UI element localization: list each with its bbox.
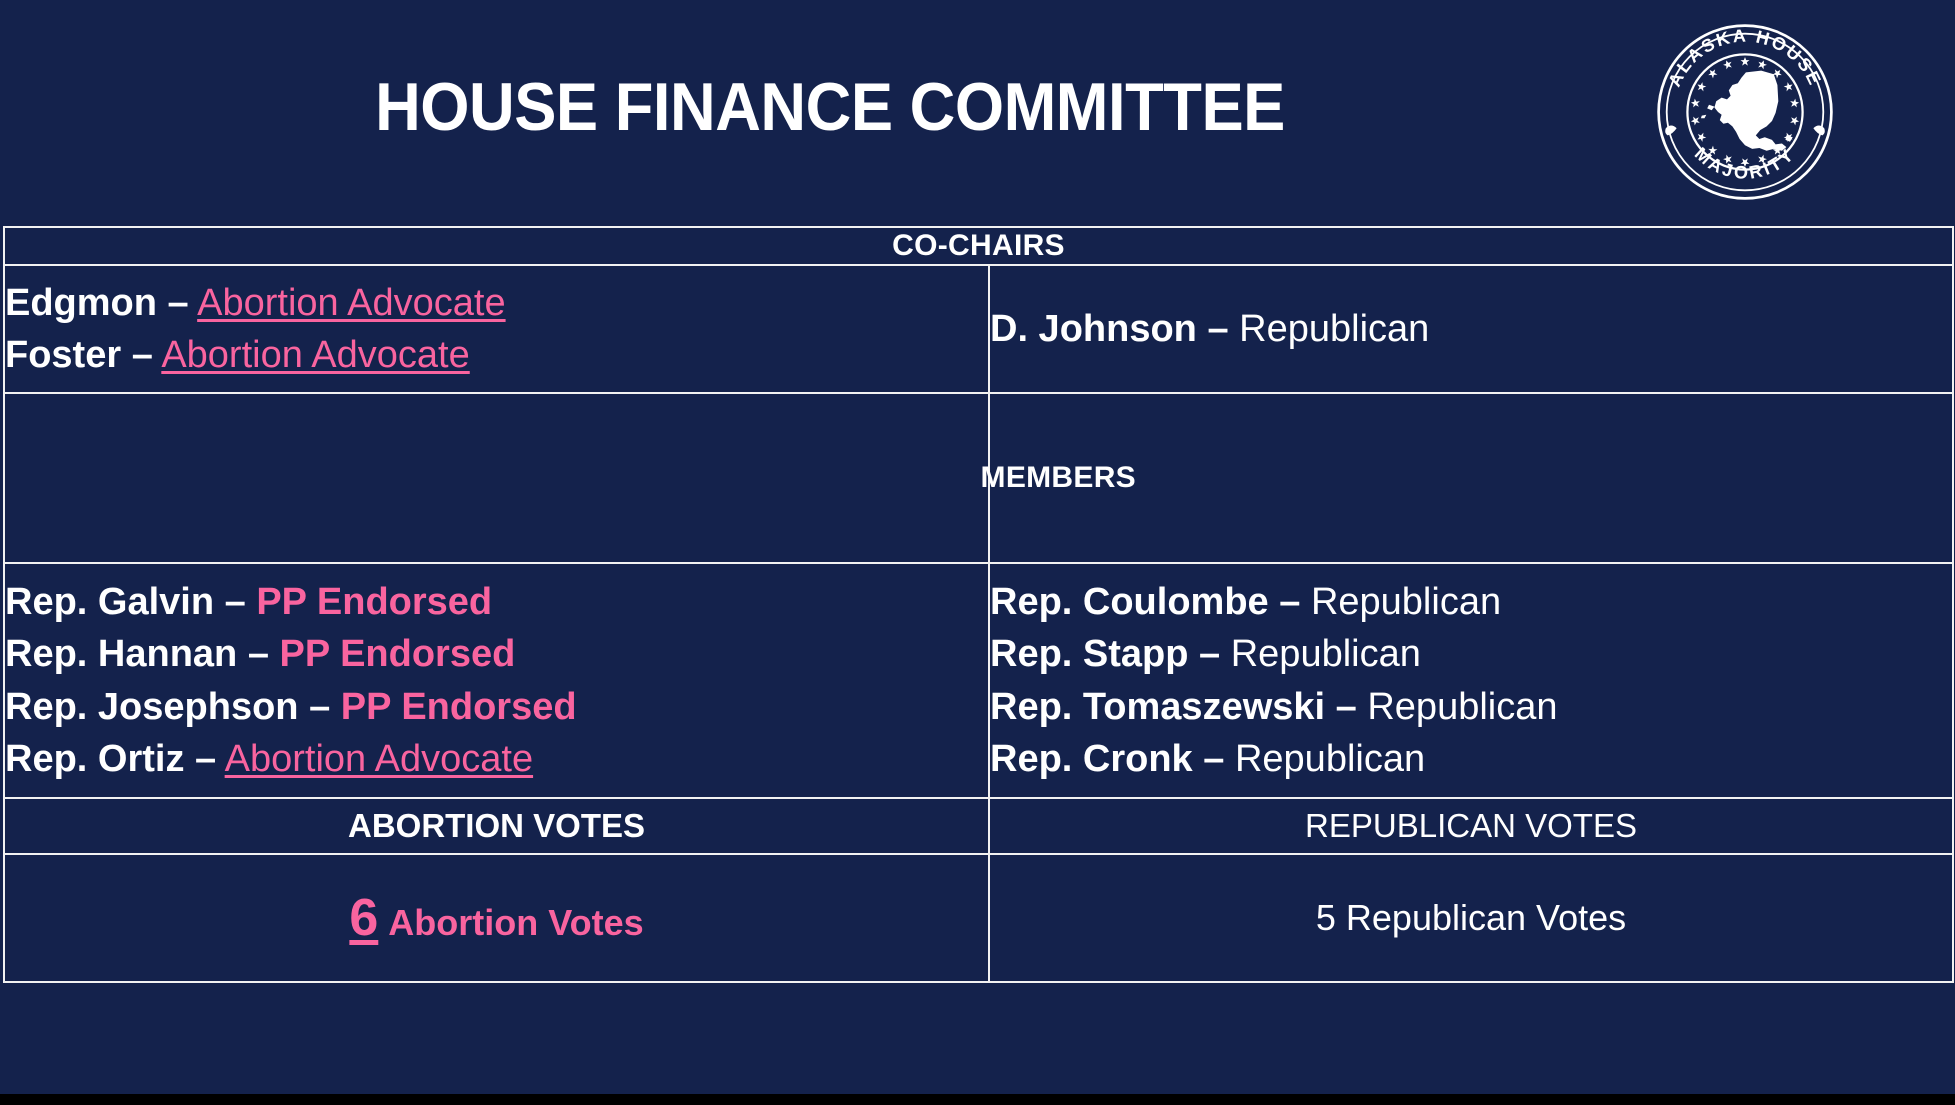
member-line: Rep. Ortiz – Abortion Advocate xyxy=(5,733,988,785)
table-row-vote-headers: ABORTION VOTES REPUBLICAN VOTES xyxy=(4,798,1953,854)
member-name: Rep. Cronk xyxy=(990,738,1193,780)
abortion-votes-count-label: Abortion Votes xyxy=(388,902,643,943)
members-left-cell: Rep. Galvin – PP Endorsed Rep. Hannan – … xyxy=(4,563,989,798)
member-line: D. Johnson – Republican xyxy=(990,303,1952,355)
member-name: Rep. Hannan xyxy=(5,633,237,675)
table-row-members: Rep. Galvin – PP Endorsed Rep. Hannan – … xyxy=(4,563,1953,798)
republican-votes-header: REPUBLICAN VOTES xyxy=(989,798,1953,854)
co-chairs-left-cell: Edgmon – Abortion Advocate Foster – Abor… xyxy=(4,265,989,393)
member-name: Edgmon xyxy=(5,282,157,324)
member-dash: – xyxy=(1336,686,1357,728)
abortion-votes-total-cell: 6Abortion Votes xyxy=(4,854,989,982)
member-name: Rep. Tomaszewski xyxy=(990,686,1325,728)
member-affiliation: Republican xyxy=(1231,633,1421,675)
table-row-co-chairs: Edgmon – Abortion Advocate Foster – Abor… xyxy=(4,265,1953,393)
member-affiliation: PP Endorsed xyxy=(341,686,577,728)
slide-canvas: HOUSE FINANCE COMMITTEE ALASKA HOUSE MAJ… xyxy=(0,0,1955,1094)
member-line: Foster – Abortion Advocate xyxy=(5,329,988,381)
member-dash: – xyxy=(309,686,330,728)
member-affiliation: Republican xyxy=(1311,581,1501,623)
member-dash: – xyxy=(1199,633,1220,675)
member-affiliation: Republican xyxy=(1235,738,1425,780)
member-affiliation: Abortion Advocate xyxy=(225,738,533,780)
member-name: Rep. Josephson xyxy=(5,686,299,728)
member-name: Rep. Ortiz xyxy=(5,738,184,780)
member-dash: – xyxy=(1203,738,1224,780)
member-line: Rep. Josephson – PP Endorsed xyxy=(5,681,988,733)
member-name: Foster xyxy=(5,334,121,376)
member-dash: – xyxy=(1279,581,1300,623)
member-affiliation: Republican xyxy=(1367,686,1557,728)
member-dash: – xyxy=(195,738,216,780)
member-affiliation: Abortion Advocate xyxy=(197,282,505,324)
section-header-co-chairs: CO-CHAIRS xyxy=(4,227,1953,265)
table-row-vote-totals: 6Abortion Votes 5 Republican Votes xyxy=(4,854,1953,982)
member-line: Rep. Stapp – Republican xyxy=(990,628,1952,680)
page-title: HOUSE FINANCE COMMITTEE xyxy=(58,68,1602,146)
member-line: Rep. Hannan – PP Endorsed xyxy=(5,628,988,680)
member-dash: – xyxy=(248,633,269,675)
co-chairs-right-cell: D. Johnson – Republican xyxy=(989,265,1953,393)
section-header-members: MEMBERS xyxy=(153,461,1136,495)
table-row-members-header: MEMBERS xyxy=(4,393,1953,563)
abortion-votes-header: ABORTION VOTES xyxy=(4,798,989,854)
alaska-state-silhouette-icon xyxy=(1701,71,1793,151)
member-dash: – xyxy=(132,334,153,376)
members-right-cell: Rep. Coulombe – Republican Rep. Stapp – … xyxy=(989,563,1953,798)
republican-votes-total: 5 Republican Votes xyxy=(1316,897,1626,938)
republican-votes-total-cell: 5 Republican Votes xyxy=(989,854,1953,982)
abortion-votes-count: 6 xyxy=(349,889,378,947)
member-affiliation: Republican xyxy=(1239,308,1429,350)
member-name: Rep. Coulombe xyxy=(990,581,1269,623)
member-name: D. Johnson xyxy=(990,308,1197,350)
member-affiliation: PP Endorsed xyxy=(256,581,492,623)
committee-table: CO-CHAIRS Edgmon – Abortion Advocate Fos… xyxy=(3,226,1954,983)
member-name: Rep. Stapp xyxy=(990,633,1188,675)
alaska-house-majority-seal-logo: ALASKA HOUSE MAJORITY xyxy=(1655,22,1835,202)
member-line: Rep. Tomaszewski – Republican xyxy=(990,681,1952,733)
table-row-co-chairs-header: CO-CHAIRS xyxy=(4,227,1953,265)
member-line: Rep. Cronk – Republican xyxy=(990,733,1952,785)
member-dash: – xyxy=(1207,308,1228,350)
member-affiliation: Abortion Advocate xyxy=(161,334,469,376)
member-dash: – xyxy=(168,282,189,324)
member-line: Rep. Coulombe – Republican xyxy=(990,576,1952,628)
section-header-members-left: MEMBERS xyxy=(4,393,989,563)
member-affiliation: PP Endorsed xyxy=(280,633,516,675)
member-name: Rep. Galvin xyxy=(5,581,214,623)
member-line: Edgmon – Abortion Advocate xyxy=(5,277,988,329)
member-line: Rep. Galvin – PP Endorsed xyxy=(5,576,988,628)
member-dash: – xyxy=(225,581,246,623)
